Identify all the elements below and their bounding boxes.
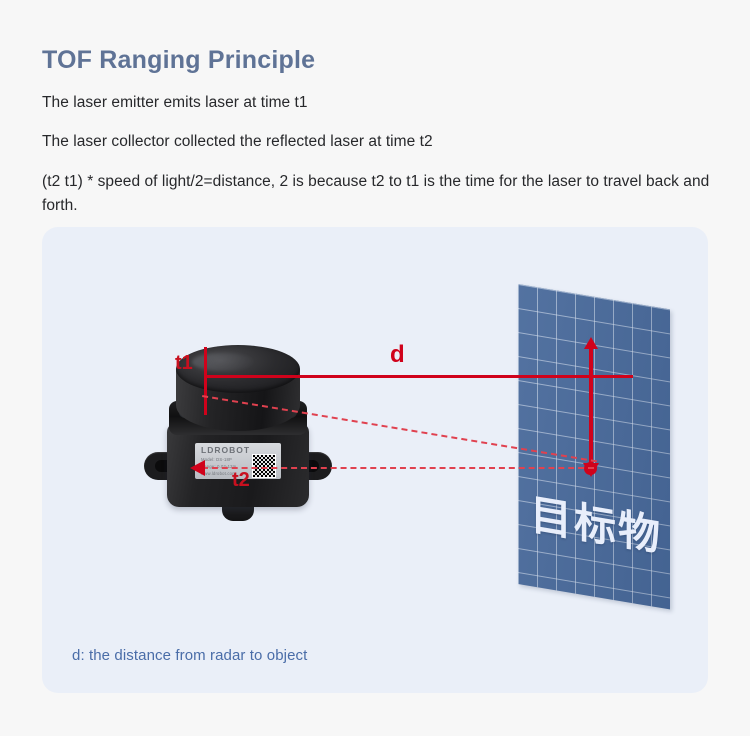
reflected-laser-ray [202,467,594,469]
target-vertical-line [589,345,593,473]
distance-origin-tick [204,347,207,415]
device-spec-line-1: Model: DS-18P [201,457,232,462]
diagram-caption: d: the distance from radar to object [72,647,307,664]
device-top-highlight [192,353,254,371]
receive-time-label: t2 [232,469,250,492]
qr-code-icon [252,454,276,478]
body-paragraph-2: The laser collector collected the reflec… [42,131,722,153]
target-object: 目标物 [518,284,674,604]
intro-text-block: TOF Ranging Principle The laser emitter … [42,44,722,218]
body-paragraph-1: The laser emitter emits laser at time t1 [42,92,722,114]
distance-measure-line [205,375,633,378]
diagram-stage: 目标物 LDROBOT Model: DS-18P Range: 0.02-12… [42,227,708,693]
distance-label: d [390,341,405,369]
target-line-arrow-down [583,463,599,477]
diagram-panel: 目标物 LDROBOT Model: DS-18P Range: 0.02-12… [42,227,708,693]
page-root: TOF Ranging Principle The laser emitter … [0,0,750,736]
reflected-ray-arrow [190,460,205,476]
emit-time-label: t1 [175,352,193,375]
lidar-device: LDROBOT Model: DS-18P Range: 0.02-12m ww… [140,357,336,557]
body-paragraph-3: (t2 t1) * speed of light/2=distance, 2 i… [42,170,714,218]
device-spec-line-3: www.ldrobot.com [201,471,236,476]
page-title: TOF Ranging Principle [42,44,722,76]
device-brand-text: LDROBOT [201,445,250,455]
